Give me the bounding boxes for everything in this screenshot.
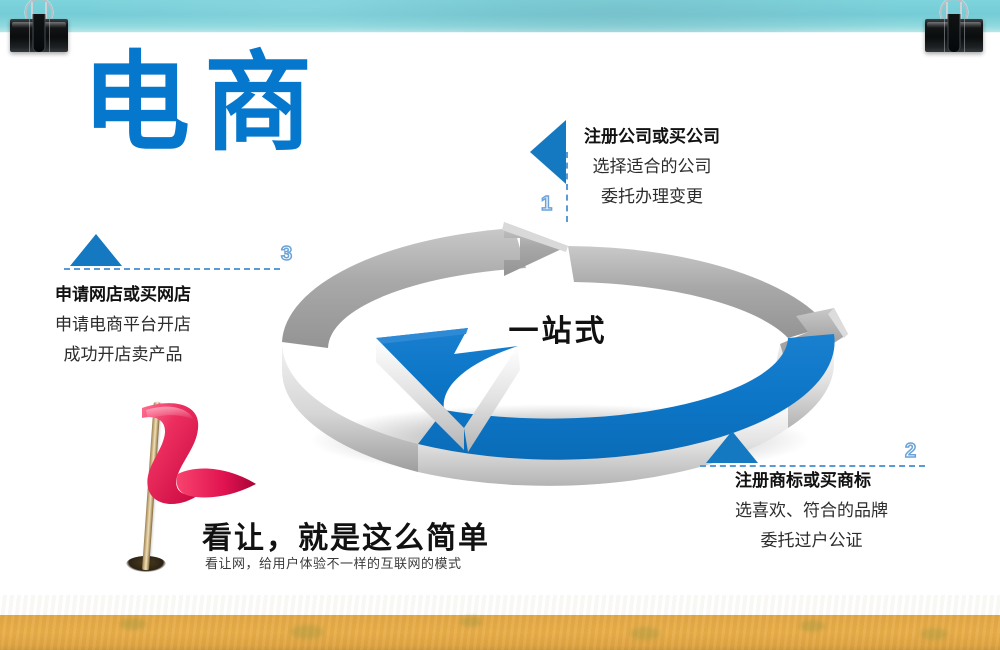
binder-clip-icon [10, 0, 68, 52]
cycle-center-label: 一站式 [268, 306, 848, 350]
step-1-number: 1 [541, 193, 552, 216]
step-2-heading: 注册商标或买商标 [735, 466, 888, 491]
step-3-text-block: 申请网店或买网店 申请电商平台开店 成功开店卖产品 [55, 280, 191, 365]
step-1-line-2: 委托办理变更 [584, 182, 720, 207]
step-2-number: 2 [905, 440, 916, 463]
step-2-marker-triangle-icon [706, 431, 758, 463]
wheat-band-texture [0, 595, 1000, 650]
step-2-line-1: 选喜欢、符合的品牌 [735, 496, 888, 521]
wheat-band [0, 595, 1000, 650]
step-1-line-1: 选择适合的公司 [584, 152, 720, 177]
step-3-line-2: 成功开店卖产品 [55, 340, 191, 365]
infographic-canvas: 电商 [0, 0, 1000, 650]
cycle-diagram: 一站式 [268, 222, 848, 484]
step-3-heading: 申请网店或买网店 [55, 280, 191, 305]
step-2-line-2: 委托过户公证 [735, 526, 888, 551]
step-3-marker-triangle-icon [70, 234, 122, 266]
clip-prong [948, 14, 961, 52]
step-1-marker-triangle-icon [530, 120, 566, 184]
step-1-connector-line [566, 152, 568, 222]
tagline-subtitle: 看让网，给用户体验不一样的互联网的模式 [205, 553, 462, 572]
step-3-number: 3 [281, 243, 292, 266]
binder-clip-icon [925, 0, 983, 52]
step-1-text-block: 注册公司或买公司 选择适合的公司 委托办理变更 [584, 122, 720, 207]
step-2-text-block: 注册商标或买商标 选喜欢、符合的品牌 委托过户公证 [735, 466, 888, 551]
tagline: 看让，就是这么简单 [202, 513, 490, 557]
page-title: 电商 [82, 46, 326, 159]
sky-band [0, 0, 1000, 33]
step-3-connector-line [64, 268, 280, 270]
step-1-heading: 注册公司或买公司 [584, 122, 720, 147]
step-3-line-1: 申请电商平台开店 [55, 310, 191, 335]
clip-prong [33, 14, 46, 52]
